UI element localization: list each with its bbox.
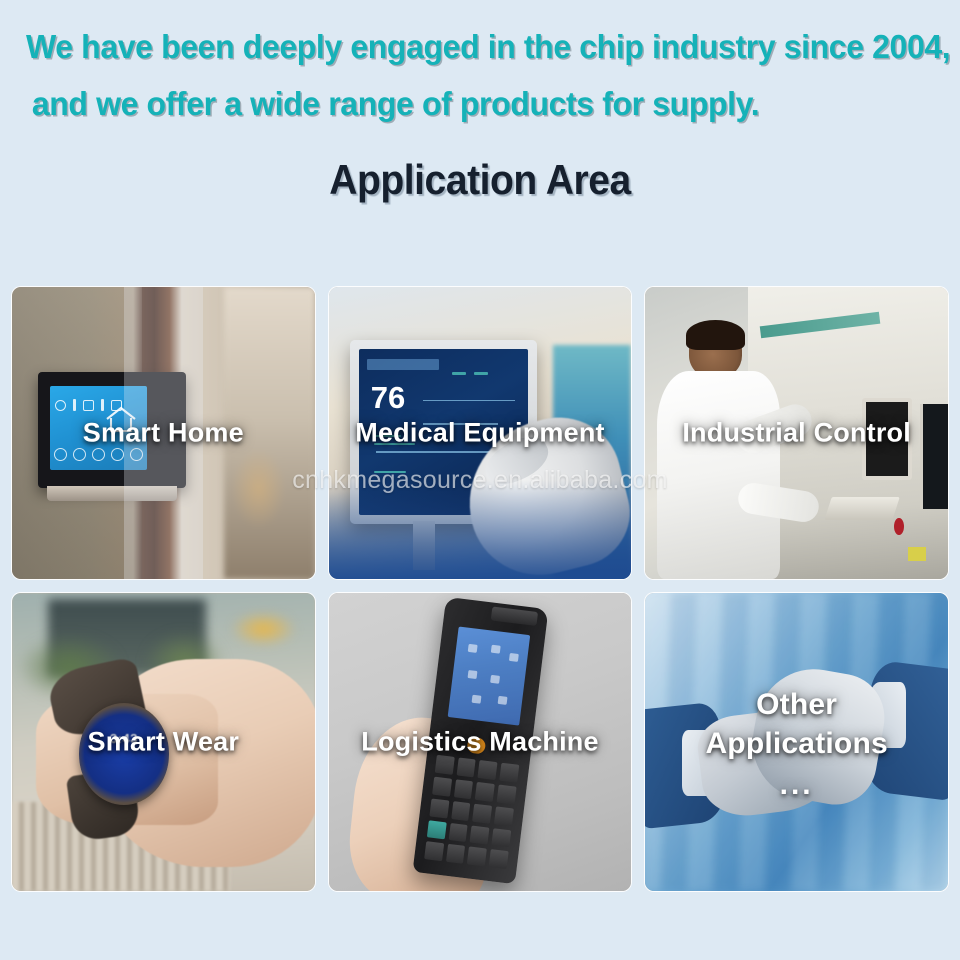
monitor-trace (423, 400, 515, 402)
monitor-screen: 76 (359, 349, 529, 515)
keypad-key (499, 763, 519, 783)
monitor-status-chip (474, 372, 488, 375)
app-icon (467, 670, 477, 679)
application-area-grid: Smart Home 76 (12, 287, 948, 891)
keypad-key (453, 779, 473, 799)
machine-display (862, 398, 912, 480)
machine-keyboard (824, 497, 899, 520)
page-header: We have been deeply engaged in the chip … (0, 0, 960, 204)
glass-reflection (124, 287, 203, 579)
app-icon (471, 694, 481, 703)
scan-button (466, 736, 485, 755)
operator-lab-coat (657, 371, 780, 579)
light-icon (54, 448, 67, 461)
headline-line-2: and we offer a wide range of products fo… (26, 75, 907, 132)
keypad-key (491, 828, 511, 848)
emergency-stop-icon (894, 518, 904, 536)
keypad-key-function (427, 820, 447, 840)
monitor-teal-reading (374, 443, 415, 445)
page-title: Application Area (58, 156, 902, 204)
tile-industrial-control[interactable]: Industrial Control (645, 287, 948, 579)
camera-icon (111, 448, 124, 461)
monitor-trace (376, 451, 495, 453)
keypad-key (448, 822, 468, 842)
app-icon (490, 645, 500, 654)
keypad-key (488, 849, 508, 869)
tile-other-applications[interactable]: Other Applications ... (645, 593, 948, 891)
keypad-key (429, 798, 449, 818)
smartwatch-icon: 3:43 (79, 703, 170, 804)
lock-icon (92, 448, 105, 461)
scanner-screen (448, 626, 531, 726)
app-icon (508, 653, 518, 662)
medical-equipment-photo: 76 (329, 287, 632, 579)
scanner-head (491, 607, 538, 626)
scanner-keypad (424, 755, 519, 870)
keypad-key (424, 842, 444, 862)
monitor-stand (413, 521, 434, 571)
keypad-key (496, 784, 516, 804)
divider-icon (73, 399, 76, 411)
app-icon (467, 644, 477, 653)
keypad-key (475, 782, 495, 802)
app-icon (490, 674, 500, 683)
app-icon (497, 696, 507, 705)
background-lights (230, 611, 297, 647)
keypad-key (435, 755, 455, 775)
industrial-control-photo (645, 287, 948, 579)
keypad-key (445, 844, 465, 864)
smart-home-photo (12, 287, 315, 579)
keypad-key (432, 776, 452, 796)
operator-hair (686, 320, 745, 350)
monitor-teal-reading (374, 471, 406, 473)
keypad-key (477, 760, 497, 780)
fan-icon (73, 448, 86, 461)
monitor-status-chip (452, 372, 466, 375)
tile-logistics-machine[interactable]: Logistics Machine (329, 593, 632, 891)
monitor-value: 76 (371, 382, 405, 413)
headline-line-1: We have been deeply engaged in the chip … (26, 18, 907, 75)
factory-operator-icon (654, 325, 787, 579)
keypad-key (494, 806, 514, 826)
watch-time: 3:43 (79, 731, 170, 746)
temperature-icon (83, 400, 94, 411)
monitor-header-bar (367, 359, 438, 371)
weather-icon (55, 400, 66, 411)
warning-label (908, 547, 926, 562)
keypad-key (451, 801, 471, 821)
tile-smart-wear[interactable]: 3:43 Smart Wear (12, 593, 315, 891)
room-background (224, 287, 315, 579)
tile-medical-equipment[interactable]: 76 Medical Equipment (329, 287, 632, 579)
handshake-photo (645, 593, 948, 891)
keypad-key (467, 847, 487, 867)
monitor-trace (423, 423, 498, 425)
keypad-key (472, 803, 492, 823)
tile-smart-home[interactable]: Smart Home (12, 287, 315, 579)
monitor-teal-reading (374, 435, 401, 437)
keypad-key (456, 757, 476, 777)
machine-display-secondary (920, 404, 948, 509)
keypad-key (469, 825, 489, 845)
